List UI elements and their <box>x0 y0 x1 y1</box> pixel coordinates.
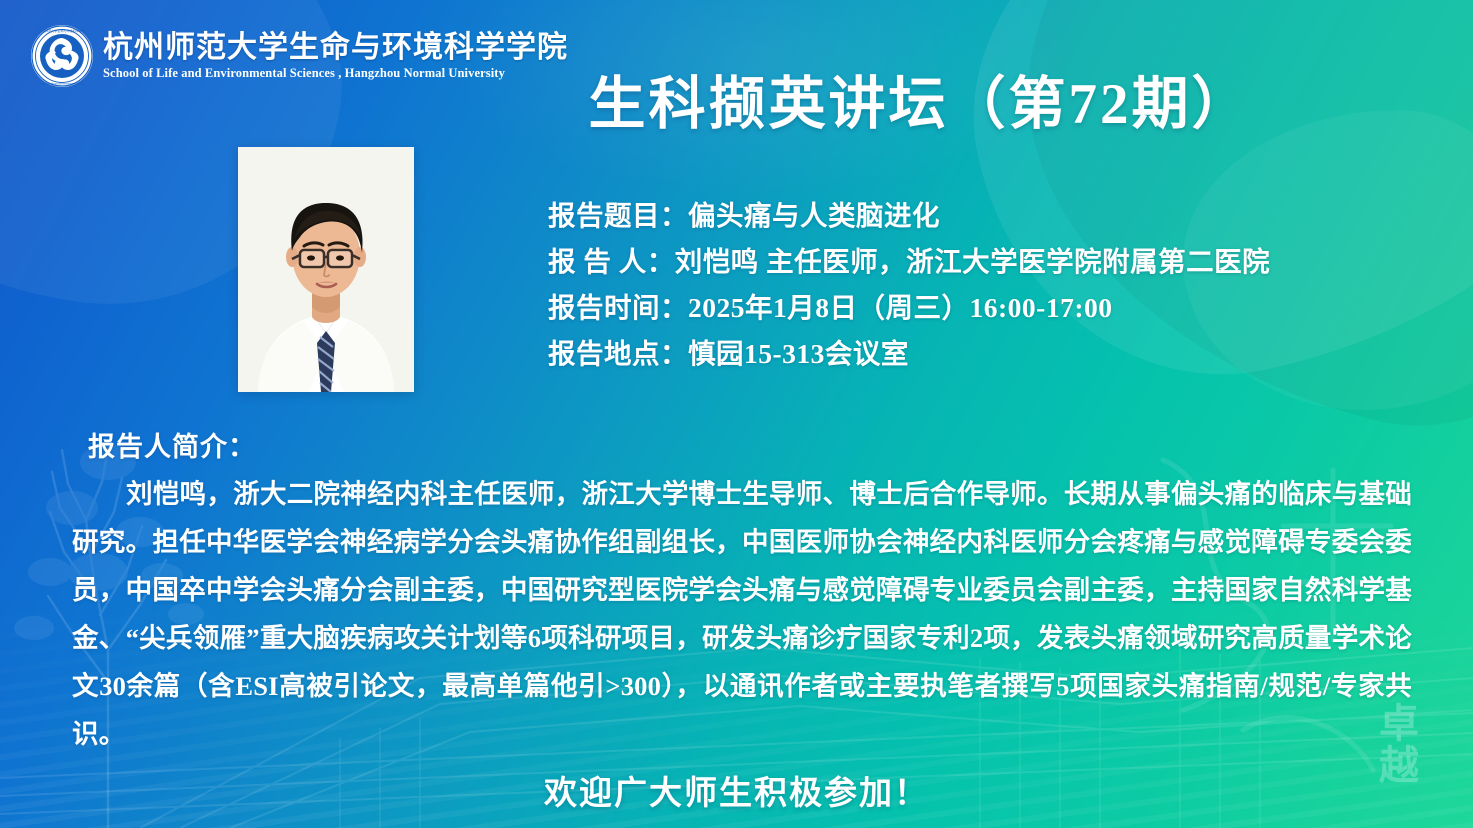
info-value-speaker: 刘恺鸣 主任医师，浙江大学医学院附属第二医院 <box>675 246 1270 277</box>
speaker-portrait <box>238 147 414 392</box>
school-name-cn: 杭州师范大学生命与环境科学学院 <box>103 31 568 65</box>
school-logo: 杭州师范大学生命与环境科学学院 School of Life and Envir… <box>30 24 568 88</box>
info-row: 报告题目：偏头痛与人类脑进化 <box>548 193 1270 239</box>
school-name-en: School of Life and Environmental Science… <box>103 66 568 81</box>
portrait-image <box>238 147 414 392</box>
svg-text:School of Life and Environment: School of Life and Environmental Science… <box>39 82 85 85</box>
info-value-time: 2025年1月8日（周三）16:00-17:00 <box>688 292 1112 323</box>
seminar-info: 报告题目：偏头痛与人类脑进化 报 告 人：刘恺鸣 主任医师，浙江大学医学院附属第… <box>548 193 1270 377</box>
welcome-message: 欢迎广大师生积极参加！ <box>0 766 1473 814</box>
university-seal-icon: 杭州师范大学生命与环境科学学院 School of Life and Envir… <box>30 24 94 88</box>
info-value-venue: 慎园15-313会议室 <box>688 338 909 369</box>
bio-heading: 报告人简介： <box>88 425 256 464</box>
school-name-block: 杭州师范大学生命与环境科学学院 School of Life and Envir… <box>103 31 568 82</box>
info-label-venue: 报告地点： <box>548 338 688 369</box>
info-label-topic: 报告题目： <box>548 200 688 231</box>
info-label-speaker: 报 告 人： <box>548 246 675 277</box>
page-title: 生科撷英讲坛（第72期） <box>540 58 1300 140</box>
info-row: 报告时间：2025年1月8日（周三）16:00-17:00 <box>548 285 1270 331</box>
seminar-poster: 卓越 杭州师范大学生命与环境科学学院 School of Life and En… <box>0 0 1473 828</box>
info-row: 报告地点：慎园15-313会议室 <box>548 331 1270 377</box>
info-value-topic: 偏头痛与人类脑进化 <box>688 200 940 231</box>
info-label-time: 报告时间： <box>548 292 688 323</box>
bio-text: 刘恺鸣，浙大二院神经内科主任医师，浙江大学博士生导师、博士后合作导师。长期从事偏… <box>72 470 1412 758</box>
svg-text:杭州师范大学生命与环境科学学院: 杭州师范大学生命与环境科学学院 <box>39 28 85 33</box>
info-row: 报 告 人：刘恺鸣 主任医师，浙江大学医学院附属第二医院 <box>548 239 1270 285</box>
